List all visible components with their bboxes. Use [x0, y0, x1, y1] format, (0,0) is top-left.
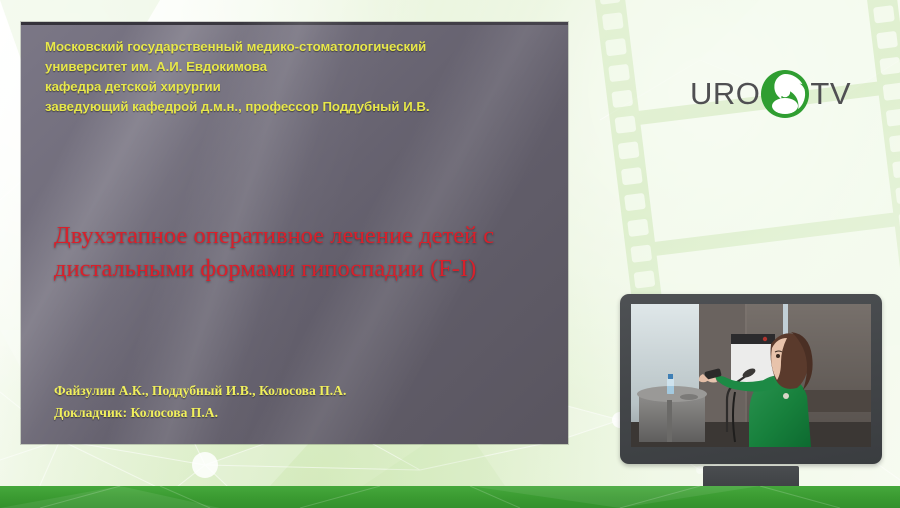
speaker-video-monitor[interactable] — [620, 294, 882, 464]
presentation-slide: Московский государственный медико-стомат… — [21, 22, 568, 444]
affiliation-line-2: университет им. А.И. Евдокимова — [45, 57, 550, 77]
urotv-logo: URO TV — [690, 68, 851, 120]
speaker-video-content — [631, 304, 871, 447]
video-player-frame: URO TV Московский государственный медико… — [0, 0, 900, 508]
slide-title-line-1: Двухэтапное оперативное лечение детей с — [54, 220, 528, 253]
bottom-bar-pattern — [0, 486, 900, 508]
bottom-accent-bar — [0, 486, 900, 508]
slide-title: Двухэтапное оперативное лечение детей с … — [54, 220, 528, 286]
slide-top-border — [21, 22, 568, 25]
logo-suffix-text: TV — [810, 76, 851, 112]
presenter-line: Докладчик: Колосова П.А. — [54, 402, 548, 424]
logo-prefix-text: URO — [690, 76, 760, 112]
affiliation-line-1: Московский государственный медико-стомат… — [45, 37, 550, 57]
monitor-screen[interactable] — [631, 304, 871, 447]
urotv-swirl-icon — [759, 68, 811, 120]
affiliation-line-3: кафедра детской хирургии — [45, 77, 550, 97]
slide-authors-block: Файзулин А.К., Поддубный И.В., Колосова … — [54, 380, 548, 424]
slide-title-line-2: дистальными формами гипоспадии (F-I) — [54, 253, 528, 286]
authors-line: Файзулин А.К., Поддубный И.В., Колосова … — [54, 380, 548, 402]
affiliation-line-4: заведующий кафедрой д.м.н., профессор По… — [45, 97, 550, 117]
slide-affiliation-block: Московский государственный медико-стомат… — [45, 37, 550, 117]
